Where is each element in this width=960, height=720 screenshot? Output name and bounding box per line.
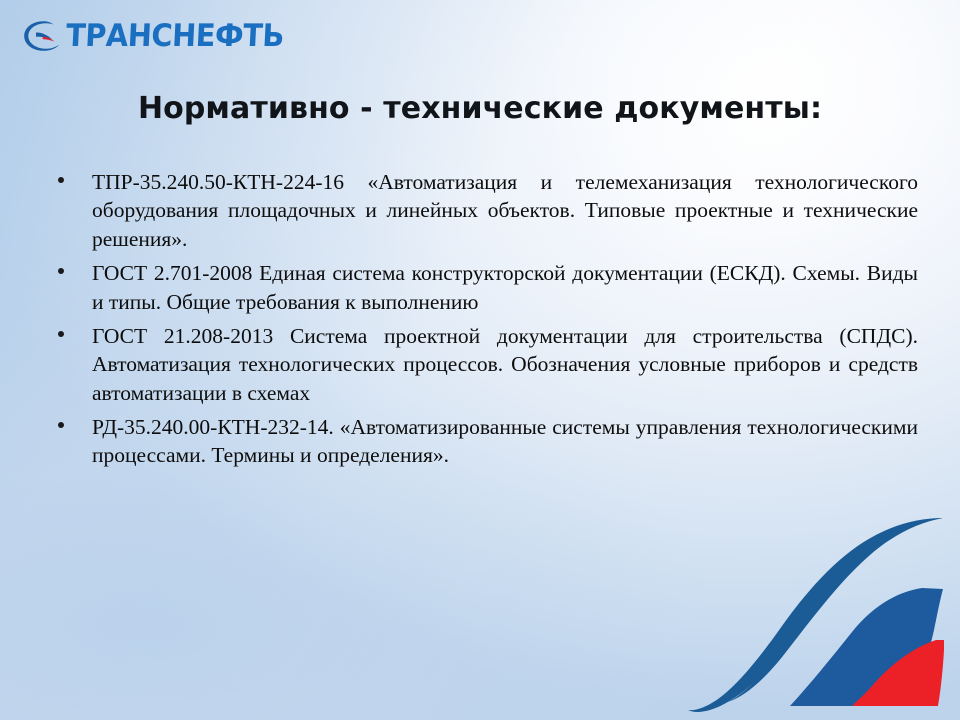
list-item: ГОСТ 21.208-2013 Система проектной докум… xyxy=(52,322,918,407)
list-item: ГОСТ 2.701-2008 Единая система конструкт… xyxy=(52,259,918,316)
bullet-dot-icon xyxy=(58,177,64,183)
normative-documents-list: ТПР-35.240.50-КТН-224-16 «Автоматизация … xyxy=(52,168,918,470)
list-item-text: ТПР-35.240.50-КТН-224-16 «Автоматизация … xyxy=(92,168,918,253)
transneft-wordmark: ТРАНСНЕФТЬ xyxy=(65,21,284,52)
slide-title: Нормативно - технические документы: xyxy=(60,92,900,127)
list-item: ТПР-35.240.50-КТН-224-16 «Автоматизация … xyxy=(52,168,918,253)
list-item-text: РД-35.240.00-КТН-232-14. «Автоматизирова… xyxy=(92,413,918,470)
transneft-corner-swoosh-icon xyxy=(660,510,960,720)
list-item-text: ГОСТ 21.208-2013 Система проектной докум… xyxy=(92,322,918,407)
list-item: РД-35.240.00-КТН-232-14. «Автоматизирова… xyxy=(52,413,918,470)
bullet-dot-icon xyxy=(58,331,64,337)
transneft-logo: ТРАНСНЕФТЬ xyxy=(22,14,300,58)
list-item-text: ГОСТ 2.701-2008 Единая система конструкт… xyxy=(92,259,918,316)
slide-canvas: ТРАНСНЕФТЬ Нормативно - технические доку… xyxy=(0,0,960,720)
transneft-swoosh-emblem-icon xyxy=(22,19,62,53)
bullet-dot-icon xyxy=(58,268,64,274)
bullet-dot-icon xyxy=(58,422,64,428)
